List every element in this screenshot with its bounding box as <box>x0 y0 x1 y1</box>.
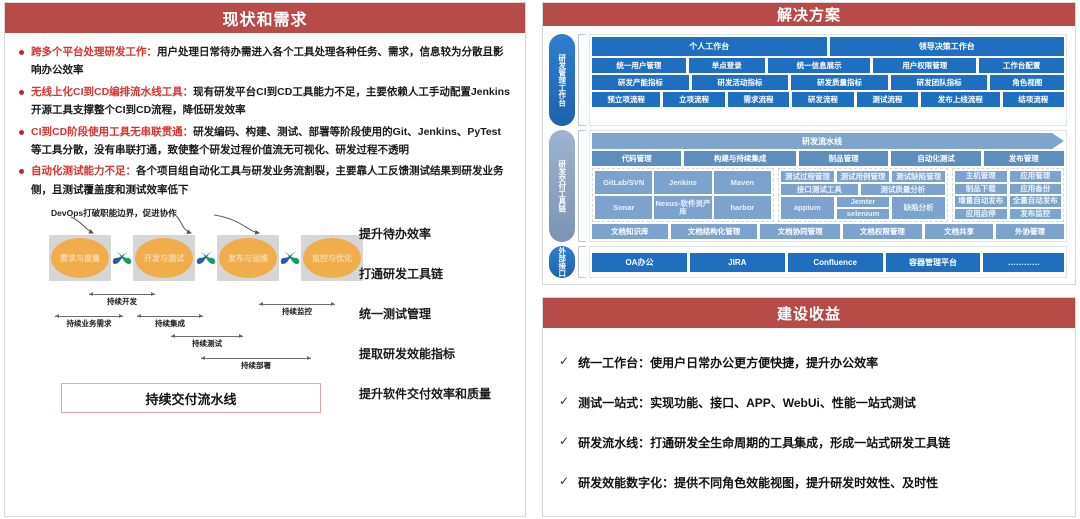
bracket-icon <box>578 34 586 126</box>
benefit-text: 统一工作台：使用户日常办公更方便快捷，提升办公效率 <box>578 354 878 371</box>
rail-label-management-workbench: 研发管理工作台 <box>549 34 575 126</box>
span-continuous-development: 持续开发 <box>89 291 155 305</box>
tile-code-mgmt[interactable]: 代码管理 <box>592 151 681 166</box>
list-item: CI到CD阶段使用工具无串联贯通：研发编码、构建、测试、部署等阶段使用的Git、… <box>19 123 511 160</box>
tile-role-view[interactable]: 角色视图 <box>990 75 1064 90</box>
tile-pre-project-process[interactable]: 预立项流程 <box>592 92 660 107</box>
tool-test-defect-mgmt[interactable]: 测试缺陷管理 <box>892 171 945 182</box>
stage-box: 监控与优化 <box>301 235 363 281</box>
stage-label: 发布与运维 <box>219 238 277 278</box>
stage-box: 开发与测试 <box>133 235 195 281</box>
tool-sonar[interactable]: Sonar <box>595 196 652 219</box>
stage-box: 发布与运维 <box>217 235 279 281</box>
deploy-row: 制品下载 应用备份 <box>955 184 1061 195</box>
tile-workbench-config[interactable]: 工作台配置 <box>979 58 1064 73</box>
tile-release-process[interactable]: 发布上线流程 <box>921 92 1000 107</box>
solution-card: 解决方案 研发管理工作台 研发交付工具链 外部接口 个人工作台 <box>542 2 1076 285</box>
group-external-interface: OA办公 JIRA Confluence 容器管理平台 ………… <box>589 246 1067 278</box>
bullet-keyword: 自动化测试能力不足： <box>31 165 136 177</box>
infinity-icon <box>195 247 217 269</box>
tool-release-monitor[interactable]: 发布监控 <box>1010 209 1062 220</box>
span-label: 持续开发 <box>89 296 155 307</box>
layer-rail: 研发管理工作台 研发交付工具链 外部接口 <box>549 32 575 278</box>
tool-groups: GitLab/SVN Sonar Jenkins Nexus-软件资产库 Mav… <box>592 168 1064 222</box>
pipeline-arrow-bar: 研发流水线 <box>592 133 1052 149</box>
architecture-groups: 个人工作台 领导决策工作台 统一用户管理 单点登录 统一信息展示 用户权限管理 … <box>589 32 1067 278</box>
span-continuous-monitoring: 持续监控 <box>259 301 335 315</box>
tool-appium[interactable]: appium <box>781 197 834 219</box>
solution-architecture-diagram: 研发管理工作台 研发交付工具链 外部接口 个人工作台 领导决策工作台 <box>543 26 1075 284</box>
check-icon: ✓ <box>559 474 569 487</box>
tile-test-process[interactable]: 测试流程 <box>857 92 918 107</box>
tile-more[interactable]: ………… <box>983 253 1064 272</box>
tool-harbor[interactable]: harbor <box>714 196 771 219</box>
tool-host-mgmt[interactable]: 主机管理 <box>955 171 1007 182</box>
group-management-workbench: 个人工作台 领导决策工作台 统一用户管理 单点登录 统一信息展示 用户权限管理 … <box>589 34 1067 126</box>
tile-artifact-mgmt[interactable]: 制品管理 <box>799 151 888 166</box>
process-row: 预立项流程 立项流程 需求流程 研发流程 测试流程 发布上线流程 结项流程 <box>592 92 1064 107</box>
list-item: ✓ 测试一站式：实现功能、接口、APP、WebUi、性能一站式测试 <box>559 394 1059 411</box>
tool-app-mgmt[interactable]: 应用管理 <box>1010 171 1062 182</box>
tool-test-quality-analysis[interactable]: 测试质量分析 <box>861 184 945 195</box>
span-arrow-icon <box>171 336 243 337</box>
tile-capacity-metric[interactable]: 研发产能指标 <box>592 75 689 90</box>
benefit-text: 研发效能数字化：提供不同角色效能视图，提升研发时效性、及时性 <box>578 474 938 491</box>
tool-nexus[interactable]: Nexus-软件资产库 <box>654 196 711 219</box>
toolcol-scm: GitLab/SVN Sonar Jenkins Nexus-软件资产库 Mav… <box>592 168 774 222</box>
span-label: 持续集成 <box>137 318 203 329</box>
bullet-keyword: 无线上化CI到CD编排流水线工具： <box>31 86 193 98</box>
tile-build-ci[interactable]: 构建与持续集成 <box>684 151 796 166</box>
tool-pair: GitLab/SVN Sonar <box>595 171 652 219</box>
devops-diagram: DevOps打破职能边界，促进协作 需求与度量 <box>19 205 511 420</box>
span-arrow-icon <box>201 358 311 359</box>
tile-closing-process[interactable]: 结项流程 <box>1003 92 1064 107</box>
workbench-row: 个人工作台 领导决策工作台 <box>592 37 1064 56</box>
tile-quality-metric[interactable]: 研发质量指标 <box>791 75 888 90</box>
tool-test-case-mgmt[interactable]: 测试用例管理 <box>837 171 890 182</box>
tile-team-metric[interactable]: 研发团队指标 <box>891 75 988 90</box>
span-arrow-icon <box>137 316 203 317</box>
outcomes-list: 提升待办效率 打通研发工具链 统一测试管理 提取研发效能指标 提升软件交付效率和… <box>359 225 491 402</box>
rail-label-external-interface: 外部接口 <box>549 246 575 278</box>
check-icon: ✓ <box>559 394 569 407</box>
list-item: 提升待办效率 <box>359 225 491 242</box>
tool-jenkins[interactable]: Jenkins <box>654 171 711 194</box>
span-label: 持续业务需求 <box>55 318 123 329</box>
test-row: 测试过程管理 测试用例管理 测试缺陷管理 <box>781 171 945 182</box>
tool-app-backup[interactable]: 应用备份 <box>1010 184 1062 195</box>
tile-oa[interactable]: OA办公 <box>592 253 687 272</box>
external-row: OA办公 JIRA Confluence 容器管理平台 ………… <box>592 253 1064 272</box>
tool-api-test[interactable]: 接口测试工具 <box>781 184 858 195</box>
left-panel-title: 现状和需求 <box>5 3 525 33</box>
tile-outsourcing-mgmt[interactable]: 外协管理 <box>996 224 1064 239</box>
benefits-card: 建设收益 ✓ 统一工作台：使用户日常办公更方便快捷，提升办公效率 ✓ 测试一站式… <box>542 297 1076 517</box>
infinity-icon <box>111 247 133 269</box>
bullet-keyword: CI到CD阶段使用工具无串联贯通： <box>31 126 193 138</box>
list-item: ✓ 研发效能数字化：提供不同角色效能视图，提升研发时效性、及时性 <box>559 474 1059 491</box>
stage-label: 开发与测试 <box>135 238 193 278</box>
left-panel-body: 跨多个平台处理研发工作：用户处理日常待办需进入各个工具处理各种任务、需求，信息较… <box>5 33 525 516</box>
pipeline-box-label: 持续交付流水线 <box>145 389 236 408</box>
benefit-text: 测试一站式：实现功能、接口、APP、WebUi、性能一站式测试 <box>578 394 916 411</box>
span-label: 持续部署 <box>201 360 311 371</box>
deploy-row: 主机管理 应用管理 <box>955 171 1061 182</box>
benefits-list: ✓ 统一工作台：使用户日常办公更方便快捷，提升办公效率 ✓ 测试一站式：实现功能… <box>543 328 1075 516</box>
check-icon: ✓ <box>559 434 569 447</box>
list-item: 打通研发工具链 <box>359 265 491 282</box>
span-continuous-business-demand: 持续业务需求 <box>55 313 123 327</box>
list-item: 跨多个平台处理研发工作：用户处理日常待办需进入各个工具处理各种任务、需求，信息较… <box>19 43 511 80</box>
benefit-text: 研发流水线：打通研发全生命周期的工具集成，形成一站式研发工具链 <box>578 434 950 451</box>
tool-gitlab-svn[interactable]: GitLab/SVN <box>595 171 652 194</box>
solution-panel-title: 解决方案 <box>543 3 1075 26</box>
tile-requirement-process[interactable]: 需求流程 <box>728 92 789 107</box>
deploy-row: 应用启停 发布监控 <box>955 209 1061 220</box>
tool-pair: Maven harbor <box>714 171 771 219</box>
tool-pair: Jenkins Nexus-软件资产库 <box>654 171 711 219</box>
tile-release-mgmt[interactable]: 发布管理 <box>984 151 1064 166</box>
tile-personal-workbench[interactable]: 个人工作台 <box>592 37 826 56</box>
capability-row: 统一用户管理 单点登录 统一信息展示 用户权限管理 工作台配置 <box>592 58 1064 73</box>
deploy-row: 增量自动发布 全量自动发布 <box>955 196 1061 207</box>
metrics-row: 研发产能指标 研发活动指标 研发质量指标 研发团队指标 角色视图 <box>592 75 1064 90</box>
tool-app-start-stop[interactable]: 应用启停 <box>955 209 1007 220</box>
tile-doc-knowledge-base[interactable]: 文档知识库 <box>592 224 668 239</box>
tile-project-process[interactable]: 立项流程 <box>663 92 724 107</box>
slide-root: 现状和需求 跨多个平台处理研发工作：用户处理日常待办需进入各个工具处理各种任务、… <box>0 0 1080 519</box>
toolcol-test: 测试过程管理 测试用例管理 测试缺陷管理 接口测试工具 测试质量分析 appiu… <box>778 168 948 222</box>
tile-doc-structured-mgmt[interactable]: 文档结构化管理 <box>671 224 758 239</box>
bullet-keyword: 跨多个平台处理研发工作： <box>31 46 157 58</box>
span-arrow-icon <box>55 316 123 317</box>
right-column: 解决方案 研发管理工作台 研发交付工具链 外部接口 个人工作台 <box>542 2 1076 517</box>
infinity-icon <box>279 247 301 269</box>
tool-jmeter[interactable]: Jemter <box>837 197 890 207</box>
span-label: 持续测试 <box>171 338 243 349</box>
toolcol-deploy: 主机管理 应用管理 制品下载 应用备份 增量自动发布 全量自动发布 <box>952 168 1064 222</box>
tile-jira[interactable]: JIRA <box>690 253 785 272</box>
tool-incremental-release[interactable]: 增量自动发布 <box>955 196 1007 207</box>
tile-unified-user-mgmt[interactable]: 统一用户管理 <box>592 58 686 73</box>
tool-full-release[interactable]: 全量自动发布 <box>1010 196 1062 207</box>
document-row: 文档知识库 文档结构化管理 文档协同管理 文档权限管理 文档共享 外协管理 <box>592 224 1064 239</box>
bracket-icon <box>578 246 586 278</box>
tile-doc-permission-mgmt[interactable]: 文档权限管理 <box>843 224 922 239</box>
tile-container-platform[interactable]: 容器管理平台 <box>886 253 981 272</box>
tile-user-permission-mgmt[interactable]: 用户权限管理 <box>873 58 976 73</box>
bracket-group <box>578 32 586 278</box>
check-icon: ✓ <box>559 354 569 367</box>
span-continuous-integration: 持续集成 <box>137 313 203 327</box>
span-continuous-deployment: 持续部署 <box>201 355 311 369</box>
list-item: ✓ 统一工作台：使用户日常办公更方便快捷，提升办公效率 <box>559 354 1059 371</box>
pipeline-bar-label: 研发流水线 <box>802 136 842 147</box>
list-item: 统一测试管理 <box>359 305 491 322</box>
pipeline-stage-row: 代码管理 构建与持续集成 制品管理 自动化测试 发布管理 <box>592 151 1064 166</box>
devops-stage-row: 需求与度量 开发与测试 发布与运维 监控与优化 <box>49 235 363 281</box>
tile-doc-collab-mgmt[interactable]: 文档协同管理 <box>760 224 839 239</box>
list-item: 提取研发效能指标 <box>359 345 491 362</box>
requirements-bullet-list: 跨多个平台处理研发工作：用户处理日常待办需进入各个工具处理各种任务、需求，信息较… <box>19 43 511 199</box>
tile-sso[interactable]: 单点登录 <box>689 58 765 73</box>
span-continuous-testing: 持续测试 <box>171 333 243 347</box>
tile-activity-metric[interactable]: 研发活动指标 <box>692 75 789 90</box>
tile-leader-decision-workbench[interactable]: 领导决策工作台 <box>830 37 1064 56</box>
tile-unified-info-display[interactable]: 统一信息展示 <box>768 58 871 73</box>
tile-doc-share[interactable]: 文档共享 <box>925 224 993 239</box>
tile-confluence[interactable]: Confluence <box>788 253 883 272</box>
tool-artifact-download[interactable]: 制品下载 <box>955 184 1007 195</box>
rail-label-delivery-toolchain: 研发交付工具链 <box>549 130 575 242</box>
list-item: 自动化测试能力不足：各个项目组自动化工具与研发业务流割裂，主要靠人工反馈测试结果… <box>19 162 511 199</box>
tool-maven[interactable]: Maven <box>714 171 771 194</box>
continuous-delivery-pipeline-box: 持续交付流水线 <box>61 383 321 413</box>
span-arrow-icon <box>259 304 335 305</box>
tile-dev-process[interactable]: 研发流程 <box>792 92 853 107</box>
tool-selenium[interactable]: selenium <box>837 209 890 219</box>
span-arrow-icon <box>89 294 155 295</box>
stage-box: 需求与度量 <box>49 235 111 281</box>
list-item: 提升软件交付效率和质量 <box>359 385 491 402</box>
benefits-panel-title: 建设收益 <box>543 298 1075 328</box>
list-item: ✓ 研发流水线：打通研发全生命周期的工具集成，形成一站式研发工具链 <box>559 434 1059 451</box>
list-item: 无线上化CI到CD编排流水线工具：现有研发平台CI到CD工具能力不足，主要依赖人… <box>19 83 511 120</box>
tool-pair: Jemter selenium <box>837 197 890 219</box>
span-label: 持续监控 <box>259 306 335 317</box>
tool-defect-analysis[interactable]: 缺陷分析 <box>892 197 945 219</box>
test-row: 接口测试工具 测试质量分析 <box>781 184 945 195</box>
stage-label: 监控与优化 <box>303 238 361 278</box>
bracket-icon <box>578 130 586 242</box>
group-delivery-toolchain: 研发流水线 代码管理 构建与持续集成 制品管理 自动化测试 发布管理 <box>589 130 1067 242</box>
tile-auto-test[interactable]: 自动化测试 <box>891 151 980 166</box>
current-state-card: 现状和需求 跨多个平台处理研发工作：用户处理日常待办需进入各个工具处理各种任务、… <box>4 2 526 517</box>
tool-test-process-mgmt[interactable]: 测试过程管理 <box>781 171 834 182</box>
stage-label: 需求与度量 <box>51 238 109 278</box>
test-row: appium Jemter selenium 缺陷分析 <box>781 197 945 219</box>
